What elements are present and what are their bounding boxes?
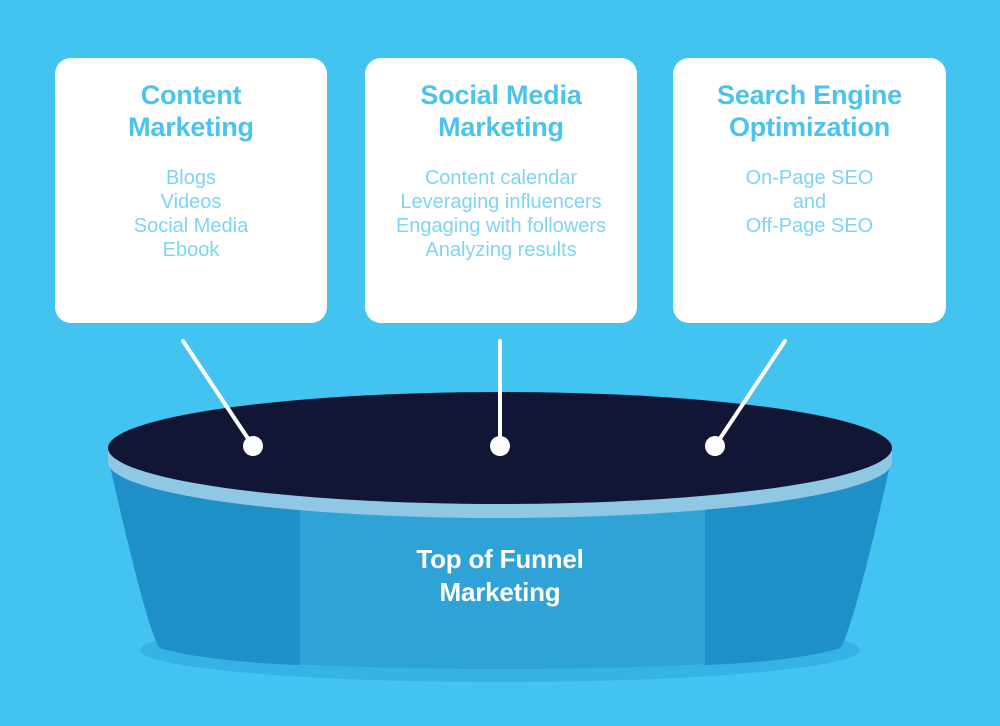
card-title: Social Media Marketing xyxy=(406,80,595,144)
connector-dot xyxy=(705,436,725,456)
card-search-engine-optimization[interactable]: Search Engine Optimization On-Page SEO a… xyxy=(673,58,946,323)
card-title: Content Marketing xyxy=(114,80,268,144)
connector-line xyxy=(183,341,253,446)
connector-dot xyxy=(490,436,510,456)
card-body: Blogs Videos Social Media Ebook xyxy=(124,166,259,262)
connector-search-engine-optimization xyxy=(705,341,785,456)
funnel-opening xyxy=(108,392,892,504)
card-body: On-Page SEO and Off-Page SEO xyxy=(736,166,884,238)
funnel-label: Top of Funnel Marketing xyxy=(0,543,1000,608)
infographic-canvas: Top of Funnel Marketing Content Marketin… xyxy=(0,0,1000,726)
card-body: Content calendar Leveraging influencers … xyxy=(386,166,616,262)
funnel-rim xyxy=(108,392,892,518)
connector-line xyxy=(715,341,785,446)
card-title: Search Engine Optimization xyxy=(703,80,916,144)
card-content-marketing[interactable]: Content Marketing Blogs Videos Social Me… xyxy=(55,58,327,323)
connector-content-marketing xyxy=(183,341,263,456)
connector-social-media-marketing xyxy=(490,341,510,456)
funnel-shadow xyxy=(140,618,860,682)
card-social-media-marketing[interactable]: Social Media Marketing Content calendar … xyxy=(365,58,637,323)
connector-dot xyxy=(243,436,263,456)
